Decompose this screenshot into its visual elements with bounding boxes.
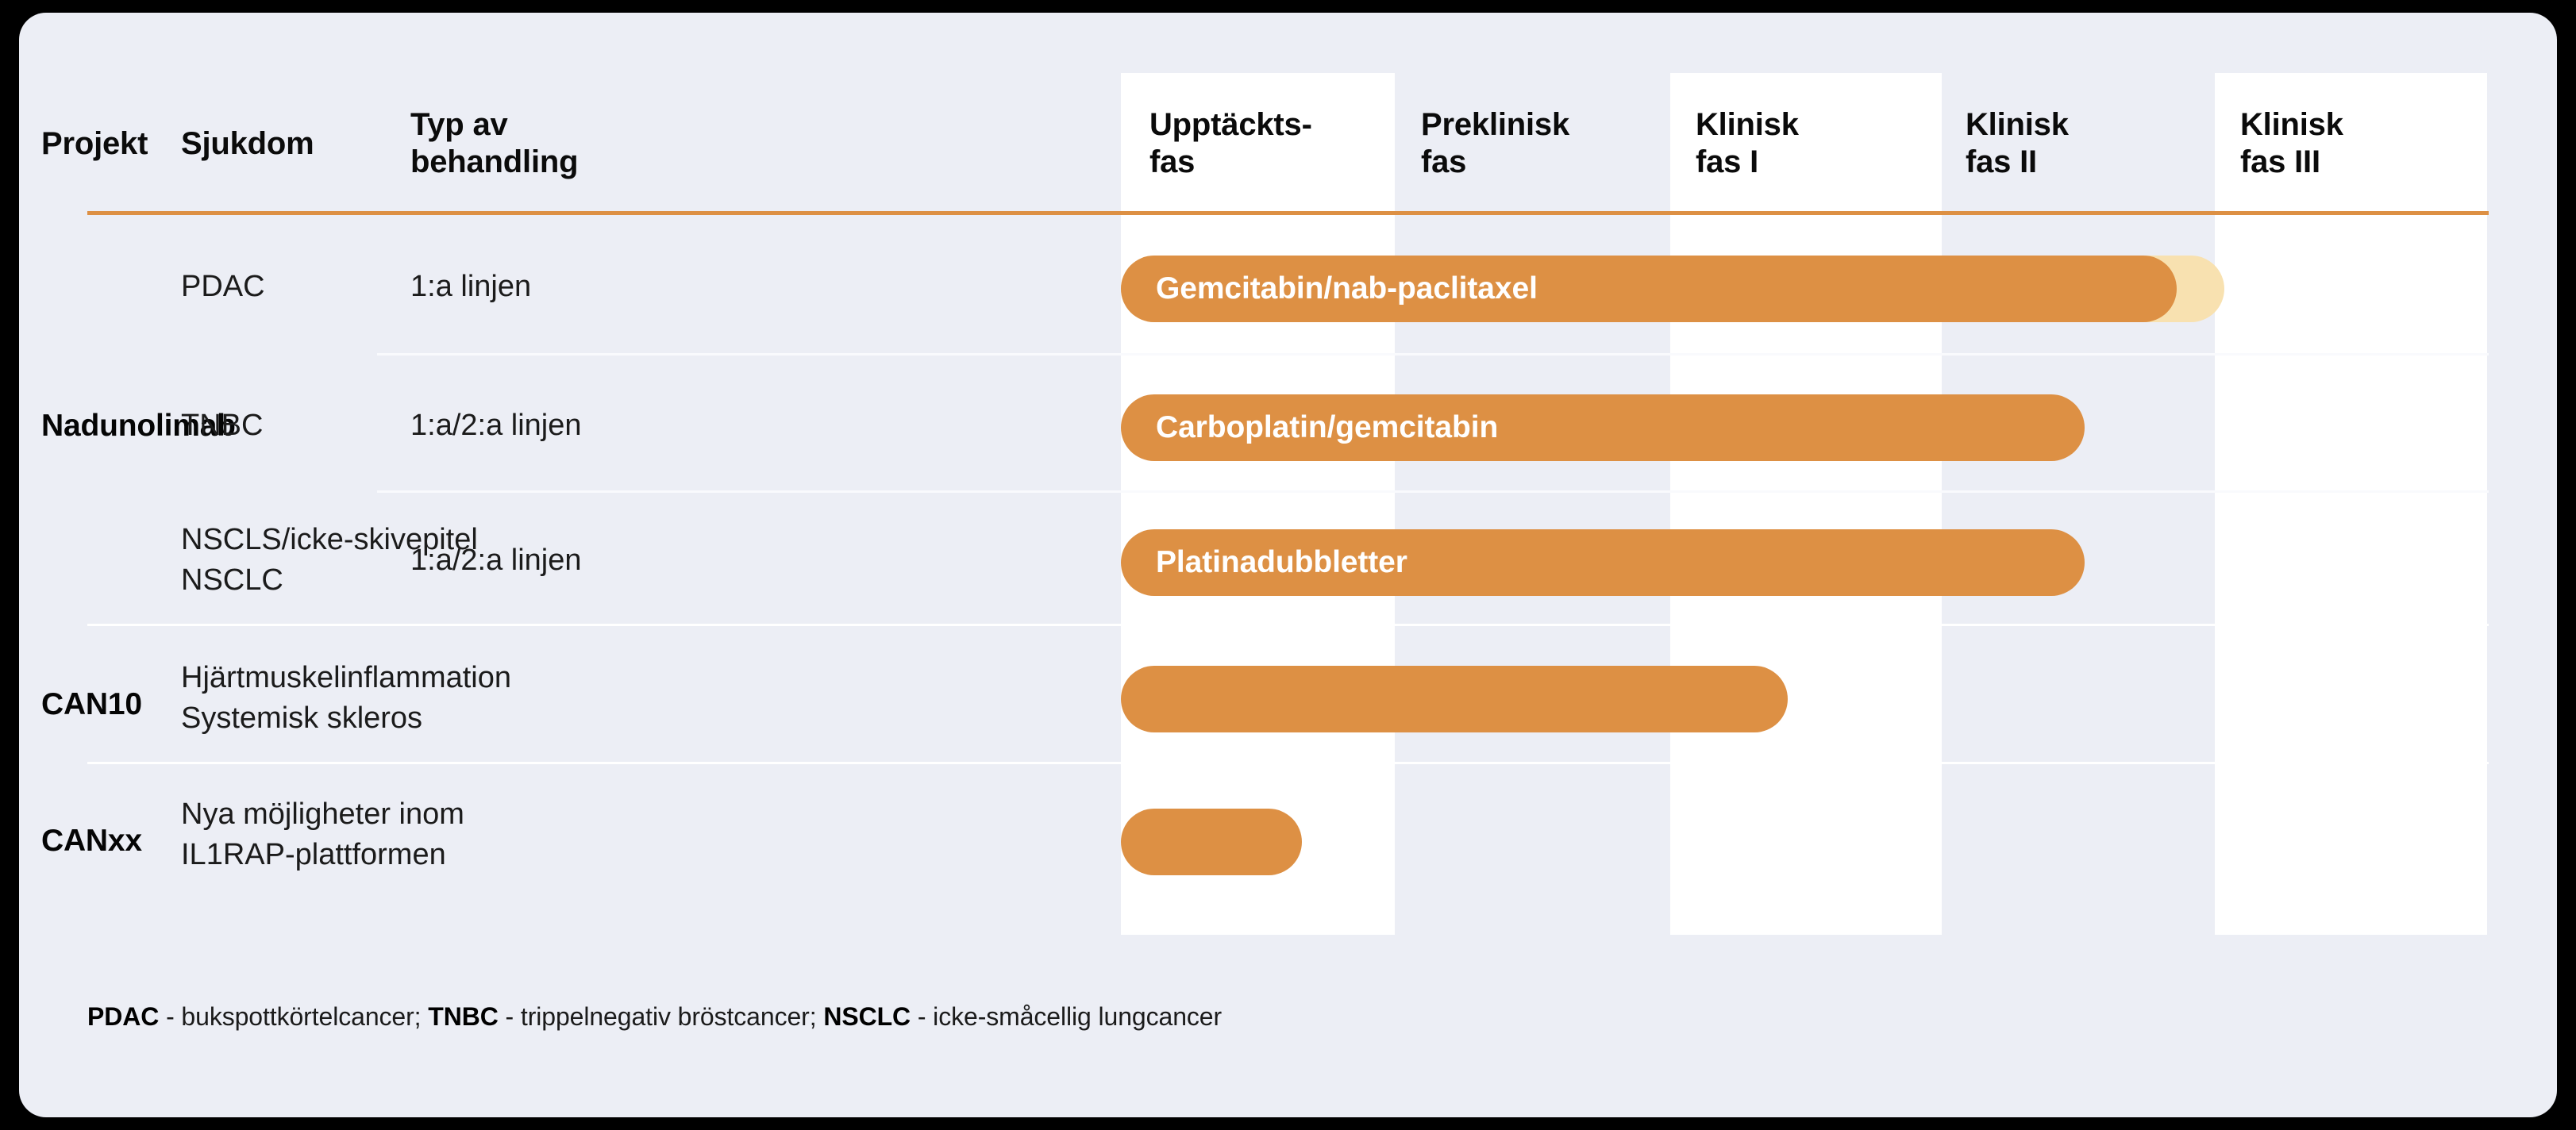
bar-label-row-2: Carboplatin/gemcitabin <box>1121 410 1498 445</box>
header-rule <box>87 211 2489 215</box>
bar-row-4[interactable] <box>1121 666 1788 732</box>
row-divider-1 <box>377 353 2489 356</box>
footnote-text-nsclc: - icke-småcellig lungcancer <box>911 1002 1222 1031</box>
footnote-abbr-pdac: PDAC <box>87 1002 159 1031</box>
column-header-upptacktsfas: Upptäckts- fas <box>1149 106 1404 181</box>
bar-row-2[interactable]: Carboplatin/gemcitabin <box>1121 394 2085 461</box>
bar-label-row-3: Platinadubbletter <box>1121 545 1407 580</box>
row-divider-2 <box>377 490 2489 493</box>
bar-row-5[interactable] <box>1121 809 1302 875</box>
footnote-text-pdac: - bukspottkörtelcancer; <box>159 1002 428 1031</box>
cell-treatment-row-3: 1:a/2:a linjen <box>410 540 582 581</box>
cell-disease-row-4: Hjärtmuskelinflammation Systemisk sklero… <box>181 658 511 738</box>
column-header-typ: Typ av behandling <box>410 106 672 181</box>
bar-row-1[interactable]: Gemcitabin/nab-paclitaxel <box>1121 256 2177 322</box>
row-divider-4 <box>87 762 2489 764</box>
column-header-klinisk-fas-3: Klinisk fas III <box>2240 106 2494 181</box>
column-header-preklinisk: Preklinisk fas <box>1421 106 1675 181</box>
footnote-abbr-tnbc: TNBC <box>428 1002 498 1031</box>
bar-row-3-visible[interactable]: Platinadubbletter <box>1121 529 2085 596</box>
cell-disease-row-2: TNBC <box>181 405 263 446</box>
cell-project-row-5: CANxx <box>41 821 142 862</box>
bar-label-row-1: Gemcitabin/nab-paclitaxel <box>1121 271 1538 306</box>
cell-disease-row-5: Nya möjligheter inom IL1RAP-plattformen <box>181 794 464 874</box>
pipeline-table: Projekt Sjukdom Typ av behandling Upptäc… <box>19 13 2557 1117</box>
cell-disease-row-1: PDAC <box>181 267 265 307</box>
footnote: PDAC - bukspottkörtelcancer; TNBC - trip… <box>87 1002 1222 1032</box>
footnote-text-tnbc: - trippelnegativ bröstcancer; <box>499 1002 824 1031</box>
cell-project-row-4: CAN10 <box>41 684 142 725</box>
cell-treatment-row-2: 1:a/2:a linjen <box>410 405 582 446</box>
column-header-klinisk-fas-1: Klinisk fas I <box>1696 106 1950 181</box>
pipeline-panel: Projekt Sjukdom Typ av behandling Upptäc… <box>19 13 2557 1117</box>
row-divider-3 <box>87 624 2489 626</box>
screenshot-canvas: Projekt Sjukdom Typ av behandling Upptäc… <box>0 0 2576 1130</box>
cell-treatment-row-1: 1:a linjen <box>410 267 531 307</box>
footnote-abbr-nsclc: NSCLC <box>823 1002 911 1031</box>
column-header-klinisk-fas-2: Klinisk fas II <box>1966 106 2220 181</box>
